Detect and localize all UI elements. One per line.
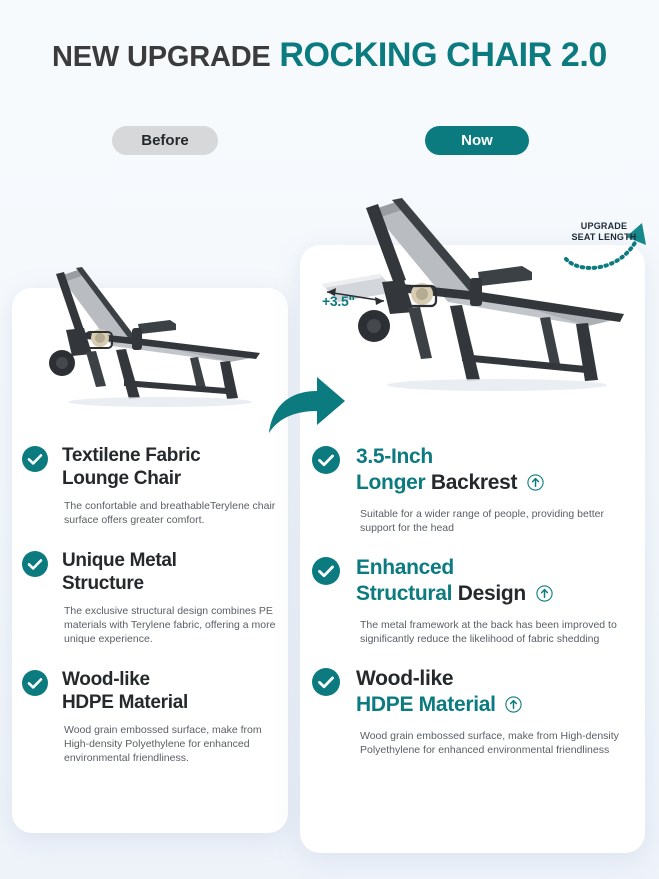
feature-title-line2-teal: Structural (356, 582, 452, 605)
feature-title-line1: Wood-like (356, 667, 453, 690)
badge-now: Now (425, 126, 529, 155)
feature-description: The confortable and breathableTerylene c… (62, 499, 284, 527)
feature-list-before: Textilene Fabric Lounge Chair The confor… (22, 444, 284, 787)
feature-description: The exclusive structural design combines… (62, 604, 284, 646)
feature-title-line2: Lounge Chair (62, 468, 181, 489)
check-circle-icon (22, 551, 48, 577)
feature-title: Wood-like HDPE Material (356, 666, 632, 720)
curved-arrow-right-icon (265, 375, 347, 442)
feature-description: Suitable for a wider range of people, pr… (356, 507, 632, 535)
page-title-lead: NEW UPGRADE (52, 41, 271, 73)
feature-title-line1: Wood-like (62, 669, 150, 690)
page-title: NEW UPGRADE ROCKING CHAIR 2.0 (0, 36, 659, 75)
arrow-up-circle-icon (536, 583, 553, 609)
feature-item: Wood-like HDPE Material Wood grain embos… (312, 666, 632, 757)
feature-title-line2-teal: Longer (356, 471, 425, 494)
feature-title: Textilene Fabric Lounge Chair (62, 444, 284, 490)
upgrade-seat-length-callout: UPGRADE SEAT LENGTH (561, 221, 647, 243)
upgrade-callout-line1: UPGRADE (561, 221, 647, 232)
feature-title-line2-dark: Backrest (431, 471, 517, 494)
feature-title-line1: Enhanced (356, 556, 454, 579)
chair-image-before (20, 258, 290, 408)
feature-title-line2: Structure (62, 573, 144, 594)
feature-description: Wood grain embossed surface, make from H… (356, 729, 632, 757)
feature-description: Wood grain embossed surface, make from H… (62, 723, 284, 765)
check-circle-icon (22, 446, 48, 472)
badge-before: Before (112, 126, 218, 155)
upgrade-callout-line2: SEAT LENGTH (561, 232, 647, 243)
feature-list-now: 3.5-Inch Longer Backrest Suitable for a … (312, 444, 632, 777)
feature-title: Enhanced Structural Design (356, 555, 632, 609)
check-circle-icon (312, 446, 340, 474)
check-circle-icon (312, 668, 340, 696)
check-circle-icon (22, 670, 48, 696)
feature-title: Wood-like HDPE Material (62, 668, 284, 714)
feature-item: Unique Metal Structure The exclusive str… (22, 549, 284, 646)
feature-title-line2-dark: Design (458, 582, 526, 605)
feature-description: The metal framework at the back has been… (356, 618, 632, 646)
feature-item: 3.5-Inch Longer Backrest Suitable for a … (312, 444, 632, 535)
feature-title-line1: 3.5-Inch (356, 445, 433, 468)
feature-title-line1: Unique Metal (62, 550, 177, 571)
arrow-up-circle-icon (505, 694, 522, 720)
arrow-up-circle-icon (527, 472, 544, 498)
feature-title: 3.5-Inch Longer Backrest (356, 444, 632, 498)
check-circle-icon (312, 557, 340, 585)
feature-item: Enhanced Structural Design The metal fra… (312, 555, 632, 646)
feature-title: Unique Metal Structure (62, 549, 284, 595)
feature-title-line2: HDPE Material (62, 692, 188, 713)
feature-item: Wood-like HDPE Material Wood grain embos… (22, 668, 284, 765)
extension-measure-label: +3.5" (322, 293, 355, 309)
page-title-highlight: ROCKING CHAIR 2.0 (279, 36, 607, 74)
feature-title-line1: Textilene Fabric (62, 445, 200, 466)
feature-item: Textilene Fabric Lounge Chair The confor… (22, 444, 284, 527)
feature-title-line2-teal: HDPE Material (356, 693, 496, 716)
